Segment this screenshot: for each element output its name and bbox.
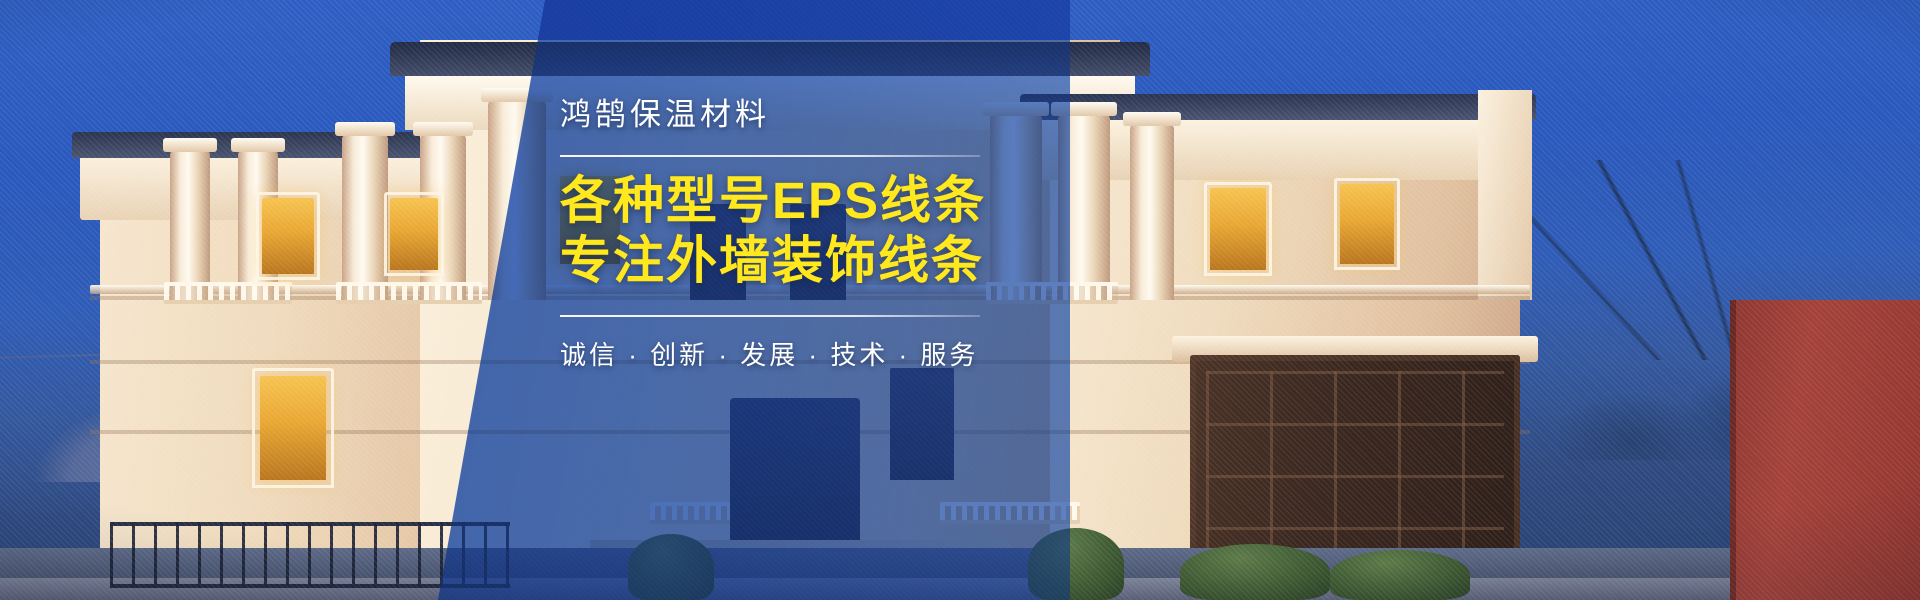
red-wall <box>1730 300 1920 600</box>
column <box>170 150 210 300</box>
shrub <box>1330 550 1470 600</box>
balustrade <box>336 282 482 304</box>
divider-top <box>560 155 980 157</box>
column <box>342 134 388 300</box>
brand-name: 鸿鹄保温材料 <box>560 96 1000 133</box>
window-frame <box>384 192 444 276</box>
tagline: 诚信 · 创新 · 发展 · 技术 · 服务 <box>560 335 1000 372</box>
column <box>1130 124 1174 300</box>
promo-banner: 鸿鹄保温材料 各种型号EPS线条 专注外墙装饰线条 诚信 · 创新 · 发展 ·… <box>0 0 1920 600</box>
headline-line-1: 各种型号EPS线条 <box>560 171 1000 231</box>
window-frame <box>256 192 320 280</box>
headline-line-2: 专注外墙装饰线条 <box>560 231 1000 291</box>
window-frame <box>1334 178 1400 270</box>
window-frame <box>1204 182 1272 276</box>
garage-door-panels <box>1206 371 1504 554</box>
chimney <box>1478 90 1532 300</box>
divider-bottom <box>560 315 980 317</box>
garage-door <box>1190 355 1520 570</box>
balustrade <box>164 282 292 304</box>
banner-text-block: 鸿鹄保温材料 各种型号EPS线条 专注外墙装饰线条 诚信 · 创新 · 发展 ·… <box>560 96 1000 372</box>
window-frame <box>252 368 334 488</box>
shrub <box>1180 544 1330 600</box>
